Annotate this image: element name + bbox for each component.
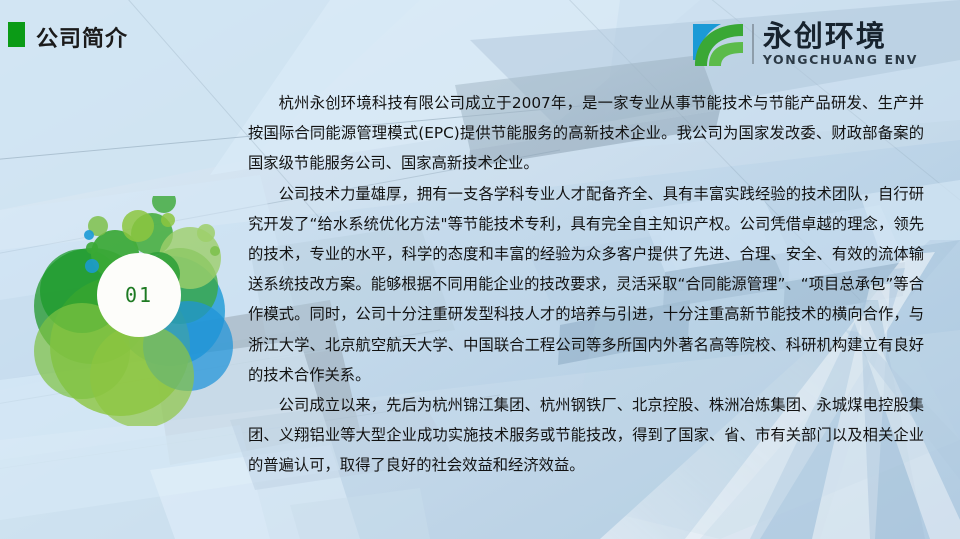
logo-swoosh-svg [691, 20, 745, 68]
logo-name-en: YONGCHUANG ENV [763, 54, 918, 67]
page-title: 公司简介 [36, 21, 128, 53]
slide-header: 公司简介 永创环境 YONGCHUANG ENV [0, 0, 960, 78]
paragraph-2: 公司技术力量雄厚，拥有一支各学科专业人才配备齐全、具有丰富实践经验的技术团队，自… [248, 179, 924, 390]
paragraph-1: 杭州永创环境科技有限公司成立于2007年，是一家专业从事节能技术与节能产品研发、… [248, 88, 924, 179]
logo-name-cn: 永创环境 [763, 22, 918, 51]
logo-swoosh-icon [691, 20, 745, 68]
company-logo: 永创环境 YONGCHUANG ENV [691, 18, 918, 70]
company-profile-text: 杭州永创环境科技有限公司成立于2007年，是一家专业从事节能技术与节能产品研发、… [248, 88, 924, 481]
section-number-badge: 01 [97, 253, 181, 337]
section-number: 01 [125, 283, 153, 307]
logo-wordmark: 永创环境 YONGCHUANG ENV [763, 22, 918, 67]
logo-divider [752, 24, 754, 64]
slide-root: 公司简介 永创环境 YONGCHUANG ENV [0, 0, 960, 539]
paragraph-3: 公司成立以来，先后为杭州锦江集团、杭州钢铁厂、北京控股、株洲冶炼集团、永城煤电控… [248, 390, 924, 481]
title-marker-icon [8, 22, 25, 47]
